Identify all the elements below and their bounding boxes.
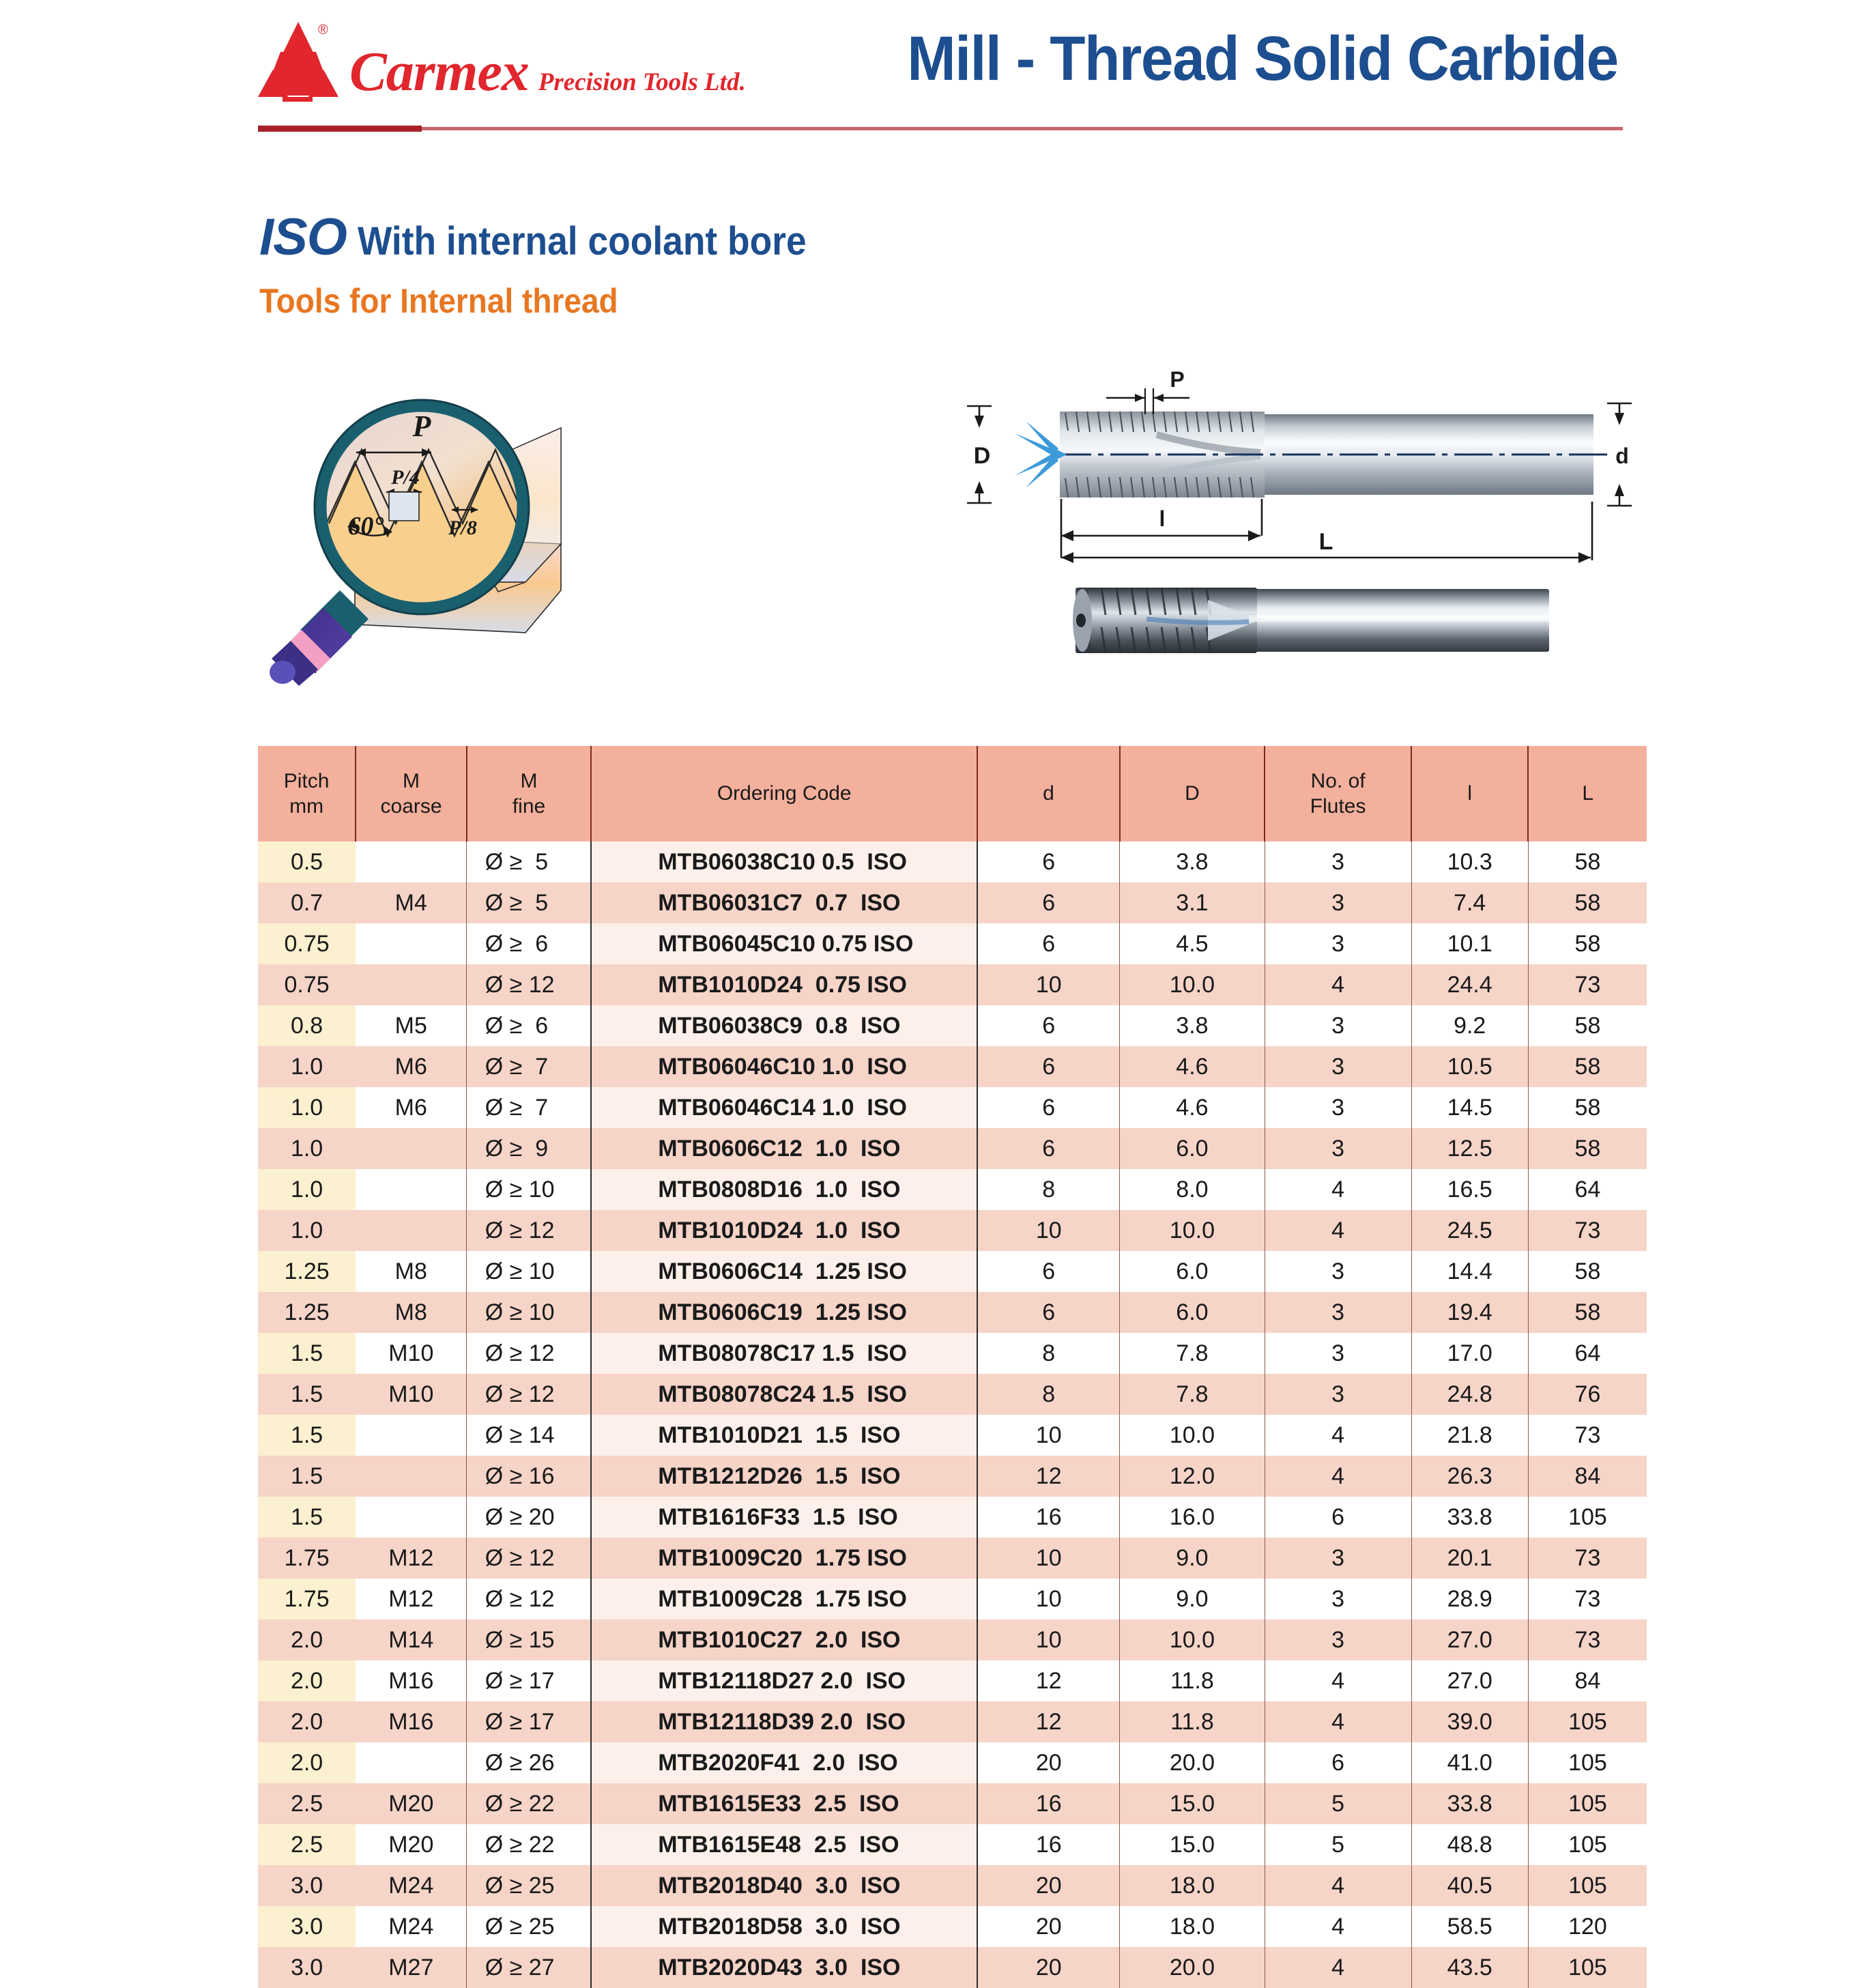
cell-code: MTB2020F41 2.0 ISO [591,1742,977,1783]
cell-L: 58 [1528,923,1647,964]
cell-L: 73 [1528,964,1647,1005]
cell-code: MTB12118D27 2.0 ISO [591,1660,977,1701]
cell-flutes: 3 [1265,1333,1411,1374]
table-row: 1.0M6Ø ≥ 7MTB06046C10 1.0 ISO64.6310.558 [258,1046,1647,1087]
m-fine-text: Ø ≥ 26 [485,1750,573,1776]
cell-mfine: Ø ≥ 7 [467,1046,591,1087]
carmex-triangle-logo-icon: ® [258,19,338,105]
cell-D: 11.8 [1120,1660,1265,1701]
cell-L: 73 [1528,1415,1647,1456]
specification-table: Pitch mm M coarse M fine Ordering Code d… [258,746,1647,1988]
label-d: d [1615,444,1629,468]
cell-L: 76 [1528,1374,1647,1415]
cell-mcoarse: M8 [356,1292,467,1333]
cell-l: 39.0 [1411,1701,1528,1742]
ordering-code-text: MTB1615E33 2.5 ISO [658,1791,910,1817]
cell-l: 10.5 [1411,1046,1528,1087]
column-header-flutes-l2: Flutes [1310,795,1366,818]
cell-flutes: 4 [1265,1456,1411,1497]
cell-mcoarse: M8 [356,1251,467,1292]
column-header-ordering-code: Ordering Code [591,746,977,841]
cell-d: 16 [977,1497,1119,1538]
m-fine-text: Ø ≥ 10 [485,1299,573,1326]
cell-L: 105 [1528,1947,1647,1988]
cell-pitch: 0.8 [258,1005,356,1046]
cell-D: 15.0 [1120,1783,1265,1824]
cell-L: 120 [1528,1906,1647,1947]
cell-pitch: 2.0 [258,1701,356,1742]
cell-mfine: Ø ≥ 12 [467,1579,591,1619]
cell-D: 10.0 [1120,1415,1265,1456]
cell-code: MTB1010D24 0.75 ISO [591,964,977,1005]
cell-pitch: 3.0 [258,1906,356,1947]
m-fine-text: Ø ≥ 7 [485,1054,573,1080]
m-fine-text: Ø ≥ 15 [485,1627,573,1654]
cell-pitch: 1.5 [258,1497,356,1538]
cell-pitch: 2.5 [258,1783,356,1824]
cell-code: MTB08078C24 1.5 ISO [591,1374,977,1415]
cell-pitch: 1.75 [258,1538,356,1579]
cell-d: 10 [977,964,1119,1005]
label-P: P [1170,367,1184,392]
m-fine-text: Ø ≥ 6 [485,1013,573,1039]
cell-l: 27.0 [1411,1660,1528,1701]
cell-d: 6 [977,1292,1119,1333]
table-row: 2.0Ø ≥ 26MTB2020F41 2.0 ISO2020.0641.010… [258,1742,1647,1783]
cell-mcoarse: M16 [356,1660,467,1701]
cell-pitch: 1.25 [258,1251,356,1292]
cell-pitch: 2.0 [258,1742,356,1783]
cell-L: 58 [1528,841,1647,882]
cell-pitch: 1.5 [258,1456,356,1497]
cell-mfine: Ø ≥ 17 [467,1660,591,1701]
cell-l: 28.9 [1411,1579,1528,1619]
ordering-code-text: MTB1010C27 2.0 ISO [658,1627,910,1654]
m-fine-text: Ø ≥ 12 [485,1586,573,1613]
cell-l: 10.3 [1411,841,1528,882]
ordering-code-text: MTB0808D16 1.0 ISO [658,1177,910,1203]
thread-mill-product-photo-icon [1044,577,1590,672]
m-fine-text: Ø ≥ 7 [485,1095,573,1121]
magnifier-handle [270,590,369,686]
table-row: 1.25M8Ø ≥ 10MTB0606C14 1.25 ISO66.0314.4… [258,1251,1647,1292]
cell-mfine: Ø ≥ 25 [467,1865,591,1906]
ordering-code-text: MTB06046C14 1.0 ISO [658,1095,910,1121]
ordering-code-text: MTB08078C17 1.5 ISO [658,1340,910,1367]
cell-code: MTB06038C10 0.5 ISO [591,841,977,882]
column-header-D: D [1120,746,1265,841]
cell-L: 58 [1528,1087,1647,1128]
ordering-code-text: MTB06038C10 0.5 ISO [658,849,910,876]
cell-L: 58 [1528,882,1647,923]
cell-D: 9.0 [1120,1579,1265,1619]
m-fine-text: Ø ≥ 22 [485,1832,573,1858]
cell-flutes: 3 [1265,1579,1411,1619]
cell-l: 19.4 [1411,1292,1528,1333]
cell-L: 84 [1528,1660,1647,1701]
cell-D: 8.0 [1120,1169,1265,1210]
cell-mfine: Ø ≥ 5 [467,841,591,882]
label-L: L [1319,529,1333,555]
cell-mfine: Ø ≥ 6 [467,1005,591,1046]
ordering-code-text: MTB1009C28 1.75 ISO [658,1586,910,1613]
cell-L: 64 [1528,1333,1647,1374]
ordering-code-text: MTB1616F33 1.5 ISO [658,1504,910,1531]
cell-mfine: Ø ≥ 10 [467,1169,591,1210]
m-fine-text: Ø ≥ 22 [485,1791,573,1817]
cell-d: 20 [977,1906,1119,1947]
cell-D: 20.0 [1120,1947,1265,1988]
cell-pitch: 0.5 [258,841,356,882]
cell-pitch: 1.0 [258,1087,356,1128]
cell-L: 58 [1528,1005,1647,1046]
subtitle-description: With internal coolant bore [358,222,807,261]
cell-mcoarse [356,1742,467,1783]
m-fine-text: Ø ≥ 14 [485,1422,573,1449]
cell-mfine: Ø ≥ 25 [467,1906,591,1947]
cell-L: 73 [1528,1538,1647,1579]
page-title: Mill - Thread Solid Carbide [908,23,1618,95]
thread-mill-dimension-diagram-icon: D d P l L [952,365,1675,577]
ordering-code-text: MTB1615E48 2.5 ISO [658,1832,910,1858]
cell-code: MTB06031C7 0.7 ISO [591,882,977,923]
table-row: 1.0Ø ≥ 9MTB0606C12 1.0 ISO66.0312.558 [258,1128,1647,1169]
cell-mcoarse: M24 [356,1906,467,1947]
cell-mfine: Ø ≥ 6 [467,923,591,964]
cell-mfine: Ø ≥ 12 [467,1374,591,1415]
table-row: 0.8M5Ø ≥ 6MTB06038C9 0.8 ISO63.839.258 [258,1005,1647,1046]
cell-d: 8 [977,1169,1119,1210]
cell-mcoarse: M6 [356,1046,467,1087]
cell-pitch: 1.0 [258,1046,356,1087]
cell-flutes: 3 [1265,1251,1411,1292]
cell-D: 18.0 [1120,1865,1265,1906]
cell-d: 16 [977,1783,1119,1824]
cell-l: 33.8 [1411,1497,1528,1538]
brand-name: Carmex [349,44,529,100]
cell-pitch: 1.25 [258,1292,356,1333]
cell-mcoarse: M24 [356,1865,467,1906]
cell-D: 4.5 [1120,923,1265,964]
cell-mcoarse: M5 [356,1005,467,1046]
registered-trademark-icon: ® [318,23,328,38]
cell-D: 18.0 [1120,1906,1265,1947]
label-pitch-P: P [412,409,432,443]
table-row: 2.0M14Ø ≥ 15MTB1010C27 2.0 ISO1010.0327.… [258,1619,1647,1660]
cell-mcoarse: M6 [356,1087,467,1128]
cell-flutes: 3 [1265,1619,1411,1660]
cell-mfine: Ø ≥ 26 [467,1742,591,1783]
m-fine-text: Ø ≥ 25 [485,1873,573,1899]
cell-D: 4.6 [1120,1087,1265,1128]
cell-mfine: Ø ≥ 12 [467,964,591,1005]
table-row: 1.25M8Ø ≥ 10MTB0606C19 1.25 ISO66.0319.4… [258,1292,1647,1333]
ordering-code-text: MTB2018D58 3.0 ISO [658,1914,910,1940]
cell-d: 10 [977,1579,1119,1619]
coolant-spray-icon [1005,421,1067,488]
cell-l: 7.4 [1411,882,1528,923]
ordering-code-text: MTB1010D24 0.75 ISO [658,972,910,998]
cell-D: 10.0 [1120,964,1265,1005]
m-fine-text: Ø ≥ 17 [485,1668,573,1695]
m-fine-text: Ø ≥ 12 [485,972,573,998]
cell-mcoarse: M16 [356,1701,467,1742]
cell-pitch: 2.0 [258,1619,356,1660]
cell-d: 10 [977,1210,1119,1251]
cell-d: 6 [977,882,1119,923]
cell-code: MTB0606C14 1.25 ISO [591,1251,977,1292]
cell-flutes: 3 [1265,1538,1411,1579]
cell-l: 48.8 [1411,1824,1528,1865]
m-fine-text: Ø ≥ 16 [485,1463,573,1490]
ordering-code-text: MTB12118D39 2.0 ISO [658,1709,910,1735]
cell-mcoarse [356,1169,467,1210]
cell-mcoarse: M10 [356,1374,467,1415]
m-fine-text: Ø ≥ 12 [485,1218,573,1244]
cell-mcoarse [356,1415,467,1456]
m-fine-text: Ø ≥ 9 [485,1136,573,1162]
cell-D: 11.8 [1120,1701,1265,1742]
cell-flutes: 4 [1265,1210,1411,1251]
cell-flutes: 3 [1265,1374,1411,1415]
ordering-code-text: MTB1010D24 1.0 ISO [658,1218,910,1244]
cell-L: 105 [1528,1783,1647,1824]
cell-d: 8 [977,1374,1119,1415]
column-header-m-coarse: M coarse [356,746,467,841]
cell-pitch: 1.0 [258,1210,356,1251]
m-fine-text: Ø ≥ 10 [485,1258,573,1285]
column-header-m-fine: M fine [467,746,591,841]
column-header-m-coarse-l1: M [403,770,420,792]
table-row: 2.0M16Ø ≥ 17MTB12118D27 2.0 ISO1211.8427… [258,1660,1647,1701]
cell-L: 58 [1528,1292,1647,1333]
cell-mcoarse: M4 [356,882,467,923]
column-header-l: l [1411,746,1528,841]
table-row: 1.5M10Ø ≥ 12MTB08078C24 1.5 ISO87.8324.8… [258,1374,1647,1415]
magnifier-thread-profile-icon: P P/4 P/8 60° [252,365,689,686]
page-header: ® Carmex Precision Tools Ltd. Mill - Thr… [0,0,1876,136]
cell-mfine: Ø ≥ 12 [467,1333,591,1374]
m-fine-text: Ø ≥ 10 [485,1177,573,1203]
cell-pitch: 1.5 [258,1374,356,1415]
cell-mcoarse: M14 [356,1619,467,1660]
brand-logo-block: ® Carmex Precision Tools Ltd. [258,19,746,105]
column-header-m-fine-l1: M [521,770,538,792]
dimension-P [1106,388,1189,414]
cell-l: 16.5 [1411,1169,1528,1210]
table-row: 1.5Ø ≥ 16MTB1212D26 1.5 ISO1212.0426.384 [258,1456,1647,1497]
cell-l: 33.8 [1411,1783,1528,1824]
ordering-code-text: MTB2018D40 3.0 ISO [658,1873,910,1899]
cell-pitch: 3.0 [258,1865,356,1906]
cell-code: MTB2018D40 3.0 ISO [591,1865,977,1906]
cell-L: 73 [1528,1619,1647,1660]
cell-code: MTB1615E48 2.5 ISO [591,1824,977,1865]
cell-flutes: 4 [1265,1660,1411,1701]
cell-d: 20 [977,1865,1119,1906]
ordering-code-text: MTB1010D21 1.5 ISO [658,1422,910,1449]
cell-flutes: 4 [1265,1947,1411,1988]
cell-mfine: Ø ≥ 12 [467,1538,591,1579]
cell-mfine: Ø ≥ 10 [467,1292,591,1333]
header-divider-accent [258,126,422,132]
cell-D: 6.0 [1120,1251,1265,1292]
cell-D: 20.0 [1120,1742,1265,1783]
cell-L: 73 [1528,1579,1647,1619]
cell-D: 12.0 [1120,1456,1265,1497]
table-body: 0.5Ø ≥ 5MTB06038C10 0.5 ISO63.8310.3580.… [258,841,1647,1988]
table-row: 1.5M10Ø ≥ 12MTB08078C17 1.5 ISO87.8317.0… [258,1333,1647,1374]
cell-D: 15.0 [1120,1824,1265,1865]
cell-pitch: 0.75 [258,964,356,1005]
cell-flutes: 4 [1265,1415,1411,1456]
cell-mcoarse [356,923,467,964]
label-l: l [1159,506,1166,531]
cell-mfine: Ø ≥ 22 [467,1824,591,1865]
cell-d: 6 [977,923,1119,964]
cell-D: 6.0 [1120,1128,1265,1169]
table-row: 0.7M4Ø ≥ 5MTB06031C7 0.7 ISO63.137.458 [258,882,1647,923]
table-row: 3.0M27Ø ≥ 27MTB2020D43 3.0 ISO2020.0443.… [258,1947,1647,1988]
ordering-code-text: MTB12118D27 2.0 ISO [658,1668,910,1695]
cell-l: 10.1 [1411,923,1528,964]
cell-code: MTB08078C17 1.5 ISO [591,1333,977,1374]
cell-mcoarse: M27 [356,1947,467,1988]
table-header-row: Pitch mm M coarse M fine Ordering Code d… [258,746,1647,841]
cell-D: 3.8 [1120,1005,1265,1046]
cell-D: 7.8 [1120,1374,1265,1415]
table-row: 1.5Ø ≥ 20MTB1616F33 1.5 ISO1616.0633.810… [258,1497,1647,1538]
cell-d: 10 [977,1619,1119,1660]
cell-pitch: 0.75 [258,923,356,964]
cell-pitch: 3.0 [258,1947,356,1988]
cell-l: 26.3 [1411,1456,1528,1497]
cell-l: 12.5 [1411,1128,1528,1169]
ordering-code-text: MTB0606C19 1.25 ISO [658,1299,910,1326]
table-row: 1.0Ø ≥ 12MTB1010D24 1.0 ISO1010.0424.573 [258,1210,1647,1251]
cell-L: 84 [1528,1456,1647,1497]
table-row: 1.75M12Ø ≥ 12MTB1009C28 1.75 ISO109.0328… [258,1579,1647,1619]
cell-d: 6 [977,1251,1119,1292]
section-subtitle: ISO With internal coolant bore Tools for… [259,212,846,318]
standard-label: ISO [259,212,347,263]
column-header-pitch-l2: mm [289,795,323,818]
label-pitch-eighth: P/8 [448,517,477,539]
cell-code: MTB1010C27 2.0 ISO [591,1619,977,1660]
cell-flutes: 3 [1265,841,1411,882]
table-row: 2.5M20Ø ≥ 22MTB1615E33 2.5 ISO1615.0533.… [258,1783,1647,1824]
cell-mfine: Ø ≥ 22 [467,1783,591,1824]
ordering-code-text: MTB06031C7 0.7 ISO [658,890,910,917]
cell-l: 24.4 [1411,964,1528,1005]
cell-mcoarse [356,1456,467,1497]
cell-L: 105 [1528,1824,1647,1865]
table-row: 1.75M12Ø ≥ 12MTB1009C20 1.75 ISO109.0320… [258,1538,1647,1579]
cell-code: MTB1616F33 1.5 ISO [591,1497,977,1538]
cell-mfine: Ø ≥ 27 [467,1947,591,1988]
cell-mfine: Ø ≥ 20 [467,1497,591,1538]
cell-mfine: Ø ≥ 16 [467,1456,591,1497]
cell-D: 9.0 [1120,1538,1265,1579]
cell-D: 6.0 [1120,1292,1265,1333]
table-row: 2.5M20Ø ≥ 22MTB1615E48 2.5 ISO1615.0548.… [258,1824,1647,1865]
cell-pitch: 2.5 [258,1824,356,1865]
table-row: 1.0M6Ø ≥ 7MTB06046C14 1.0 ISO64.6314.558 [258,1087,1647,1128]
m-fine-text: Ø ≥ 20 [485,1504,573,1531]
cell-code: MTB1010D21 1.5 ISO [591,1415,977,1456]
m-fine-text: Ø ≥ 6 [485,931,573,957]
ordering-code-text: MTB0606C14 1.25 ISO [658,1258,910,1285]
cell-mcoarse [356,1497,467,1538]
ordering-code-text: MTB0606C12 1.0 ISO [658,1136,910,1162]
cell-l: 17.0 [1411,1333,1528,1374]
cell-d: 12 [977,1660,1119,1701]
cell-l: 9.2 [1411,1005,1528,1046]
cell-flutes: 4 [1265,1865,1411,1906]
coolant-hole-icon [1076,614,1086,627]
label-D: D [974,443,991,469]
cell-flutes: 6 [1265,1742,1411,1783]
cell-mfine: Ø ≥ 5 [467,882,591,923]
cell-mcoarse: M12 [356,1538,467,1579]
cell-l: 14.4 [1411,1251,1528,1292]
cell-mcoarse [356,841,467,882]
cell-L: 73 [1528,1210,1647,1251]
cell-l: 24.5 [1411,1210,1528,1251]
table-row: 3.0M24Ø ≥ 25MTB2018D58 3.0 ISO2018.0458.… [258,1906,1647,1947]
table-row: 2.0M16Ø ≥ 17MTB12118D39 2.0 ISO1211.8439… [258,1701,1647,1742]
cell-l: 41.0 [1411,1742,1528,1783]
ordering-code-text: MTB08078C24 1.5 ISO [658,1381,910,1408]
cell-d: 10 [977,1538,1119,1579]
ordering-code-text: MTB06046C10 1.0 ISO [658,1054,910,1080]
cell-d: 20 [977,1742,1119,1783]
cell-l: 20.1 [1411,1538,1528,1579]
cell-d: 6 [977,1128,1119,1169]
cell-code: MTB2018D58 3.0 ISO [591,1906,977,1947]
cell-code: MTB0606C12 1.0 ISO [591,1128,977,1169]
m-fine-text: Ø ≥ 5 [485,890,573,917]
cell-flutes: 5 [1265,1824,1411,1865]
table-row: 1.0Ø ≥ 10MTB0808D16 1.0 ISO88.0416.564 [258,1169,1647,1210]
column-header-pitch-l1: Pitch [284,770,330,792]
cell-flutes: 4 [1265,1906,1411,1947]
cell-d: 6 [977,1087,1119,1128]
table-row: 3.0M24Ø ≥ 25MTB2018D40 3.0 ISO2018.0440.… [258,1865,1647,1906]
cell-d: 8 [977,1333,1119,1374]
table-row: 0.75Ø ≥ 12MTB1010D24 0.75 ISO1010.0424.4… [258,964,1647,1005]
cell-code: MTB06038C9 0.8 ISO [591,1005,977,1046]
cell-L: 105 [1528,1701,1647,1742]
column-header-L: L [1528,746,1647,841]
m-fine-text: Ø ≥ 5 [485,849,573,876]
ordering-code-text: MTB06038C9 0.8 ISO [658,1013,910,1039]
ordering-code-text: MTB1212D26 1.5 ISO [658,1463,910,1490]
cell-mfine: Ø ≥ 12 [467,1210,591,1251]
cell-flutes: 4 [1265,1169,1411,1210]
ordering-code-text: MTB1009C20 1.75 ISO [658,1545,910,1572]
cell-mfine: Ø ≥ 15 [467,1619,591,1660]
cell-code: MTB12118D39 2.0 ISO [591,1701,977,1742]
table-row: 1.5Ø ≥ 14MTB1010D21 1.5 ISO1010.0421.873 [258,1415,1647,1456]
cell-flutes: 3 [1265,1087,1411,1128]
subtitle-application: Tools for Internal thread [259,284,798,318]
cell-code: MTB1009C28 1.75 ISO [591,1579,977,1619]
cell-code: MTB0808D16 1.0 ISO [591,1169,977,1210]
cell-mcoarse: M10 [356,1333,467,1374]
cell-d: 6 [977,1005,1119,1046]
cell-flutes: 3 [1265,923,1411,964]
